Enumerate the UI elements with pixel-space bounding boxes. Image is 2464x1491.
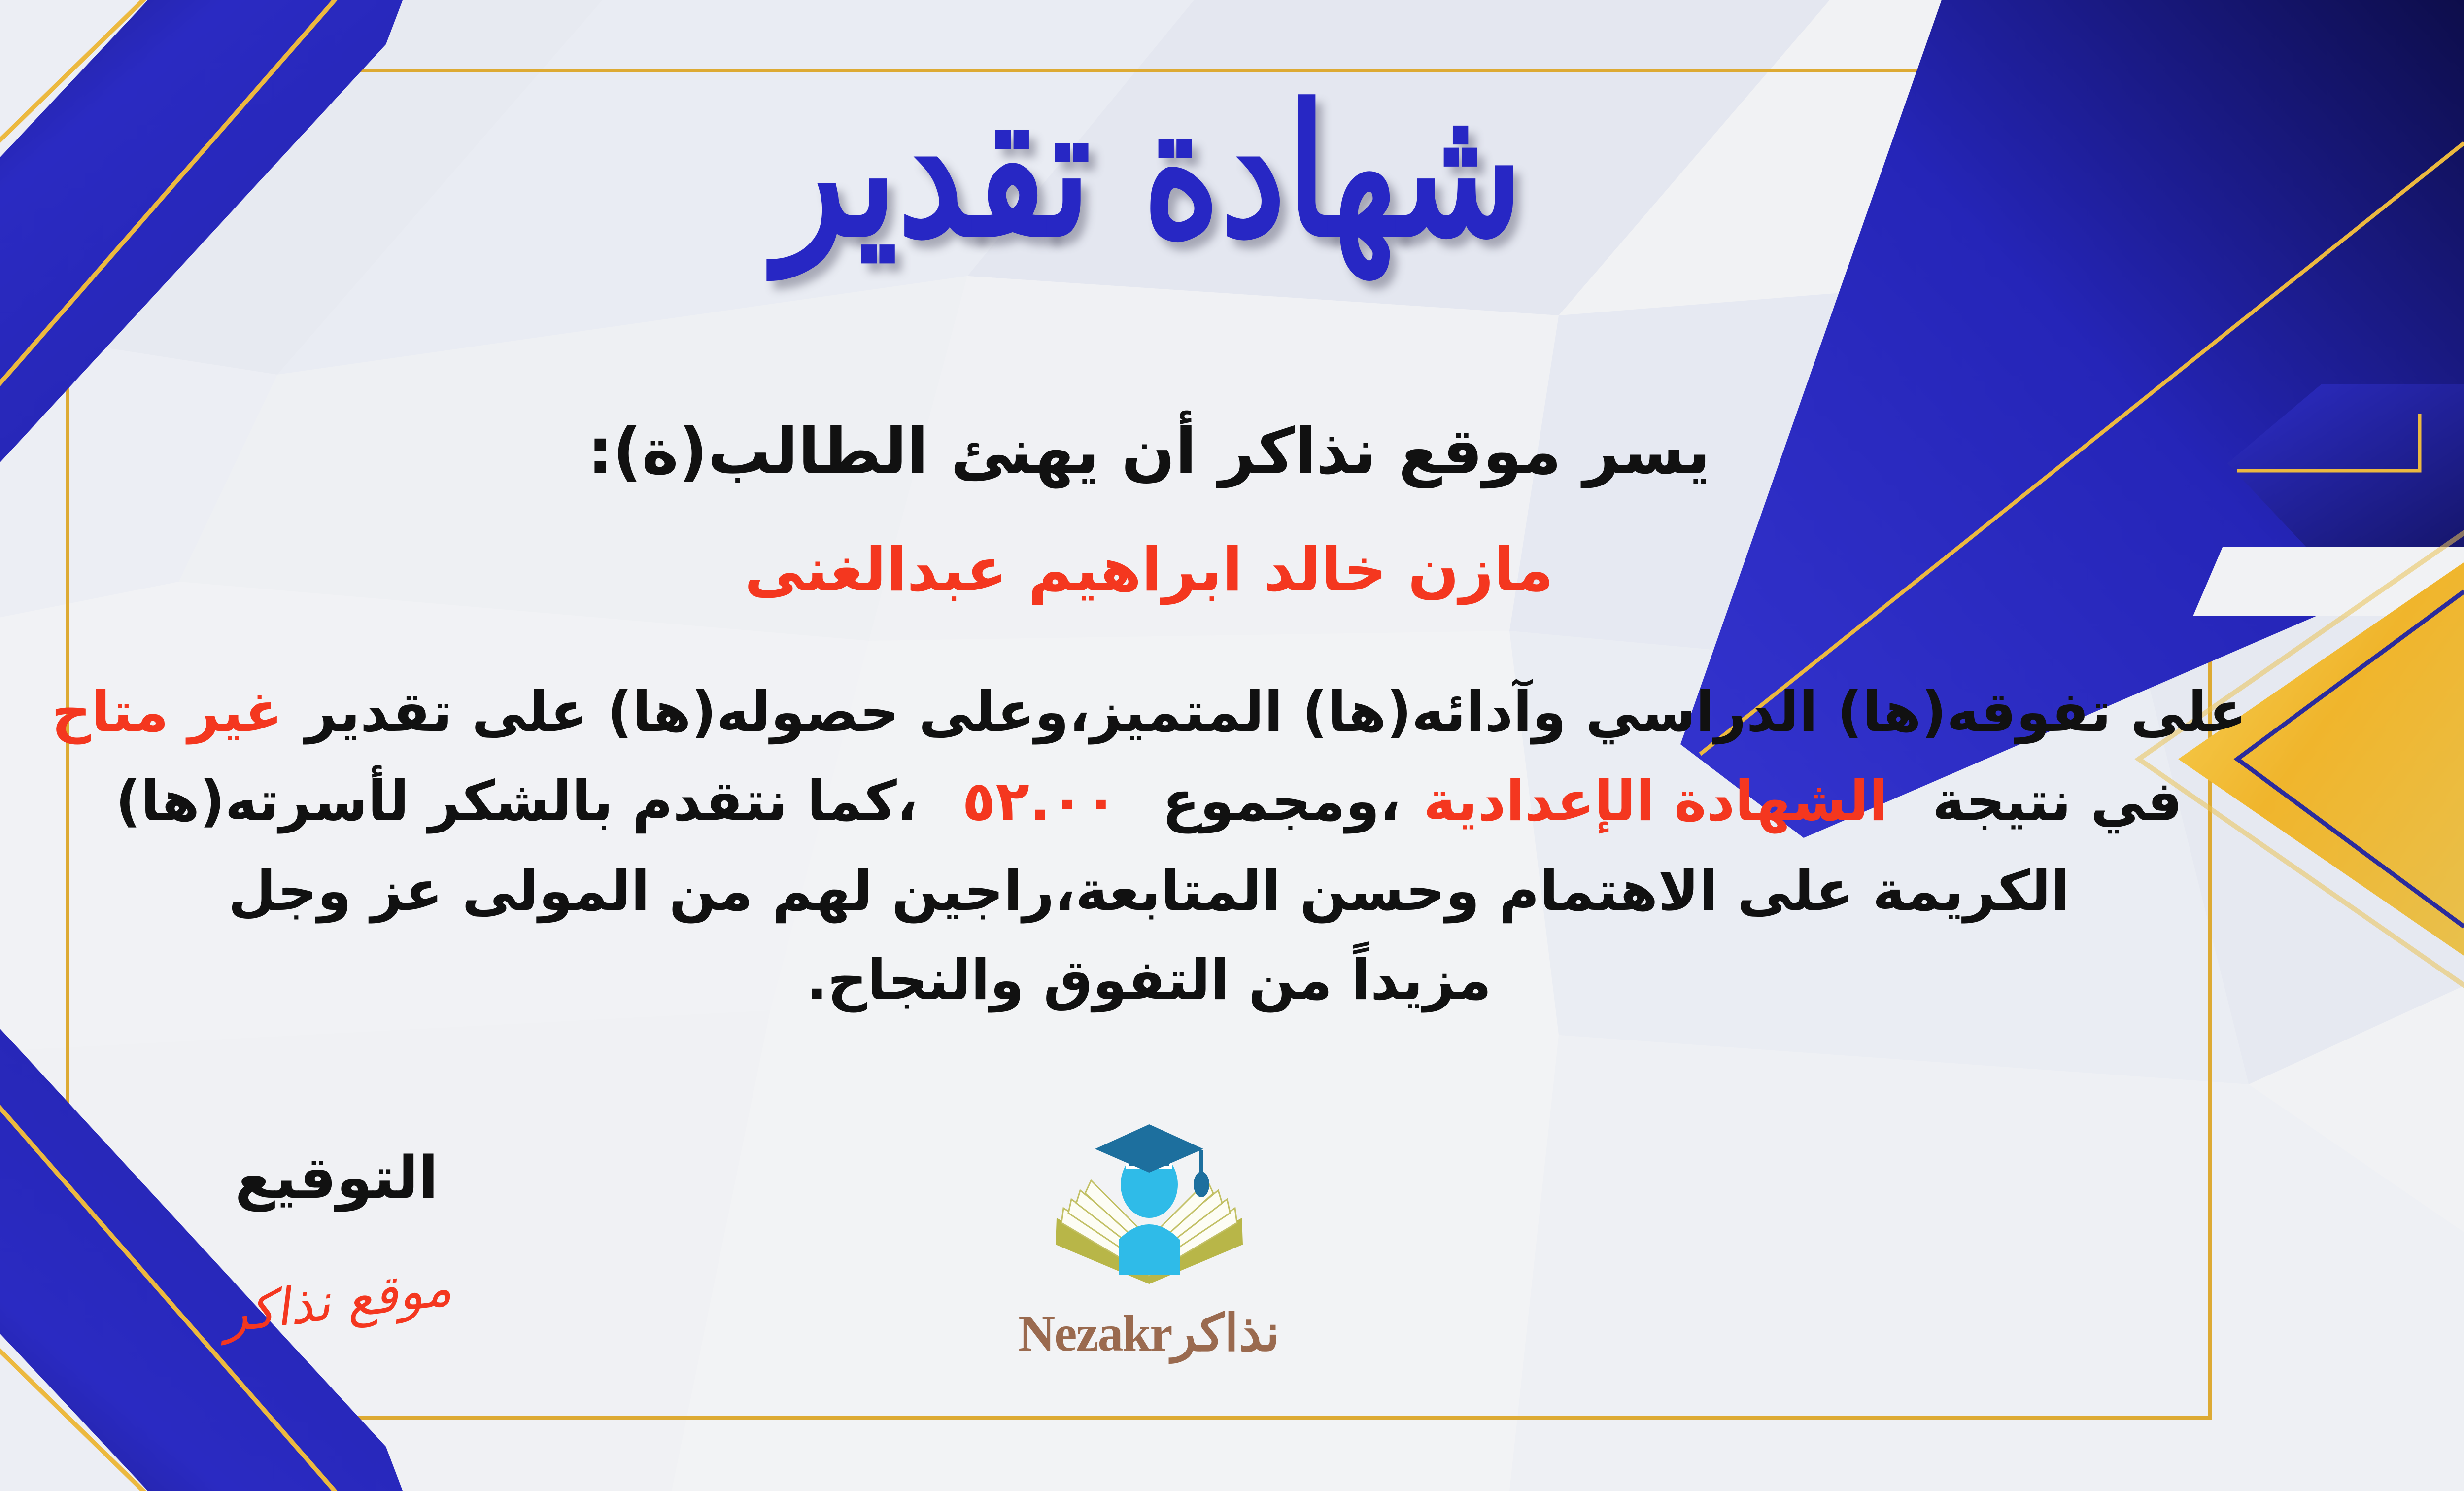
body-paragraph: على تفوقه(ها) الدراسي وآدائه(ها) المتميز… [0, 668, 2373, 1026]
student-name: مازن خالد ابراهيم عبدالغنى [0, 535, 2464, 605]
body-line-1: على تفوقه(ها) الدراسي وآدائه(ها) المتميز… [0, 668, 2373, 757]
total-score: ٥٢.٠٠ [962, 769, 1118, 833]
certificate-content: شهادة تقدير يسر موقع نذاكر أن يهنئ الطال… [0, 0, 2464, 1491]
signature-label: التوقيع [149, 1144, 524, 1212]
grade-value: غير متاح [51, 680, 282, 744]
exam-name: الشهادة الإعدادية [1423, 769, 1888, 833]
nezakr-logo: نذاكرNezakr [977, 1121, 1322, 1363]
body-line2-text-c: ،كما نتقدم بالشكر لأسرته(ها) [115, 769, 918, 833]
certificate-title: شهادة تقدير [0, 76, 2464, 265]
certificate-canvas: شهادة تقدير يسر موقع نذاكر أن يهنئ الطال… [0, 0, 2464, 1491]
signature-block: التوقيع موقع نذاكر [149, 1144, 524, 1331]
body-line2-text-b: ،ومجموع [1162, 769, 1401, 833]
logo-latin: Nezakr [1018, 1305, 1171, 1362]
body-line2-text-a: في نتيجة [1932, 769, 2183, 833]
logo-arabic: نذاكر [1172, 1305, 1280, 1362]
signature-mark: موقع نذاكر [219, 1257, 454, 1345]
body-line-3: الكريمة على الاهتمام وحسن المتابعة،راجين… [0, 847, 2373, 936]
greeting-line: يسر موقع نذاكر أن يهنئ الطالب(ة): [0, 415, 2464, 488]
body-line1-text: على تفوقه(ها) الدراسي وآدائه(ها) المتميز… [305, 680, 2247, 744]
body-line-2: في نتيجةالشهادة الإعدادية،ومجموع٥٢.٠٠،كم… [0, 757, 2373, 846]
logo-wordmark: نذاكرNezakr [977, 1303, 1322, 1363]
graduate-on-book-icon [1036, 1121, 1263, 1309]
body-line-4: مزيداً من التفوق والنجاح. [0, 936, 2373, 1025]
